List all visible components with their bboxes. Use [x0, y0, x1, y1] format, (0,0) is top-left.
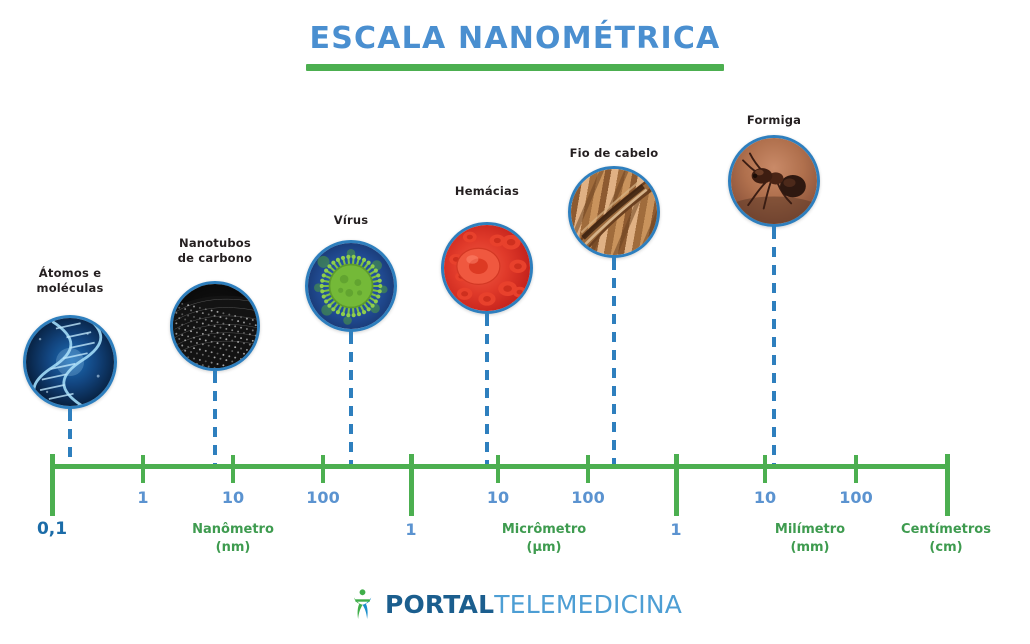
- axis-unit-name: Nanômetro: [192, 521, 274, 539]
- scale-item-label: Vírus: [334, 213, 369, 228]
- axis-unit-name: Milímetro: [775, 521, 845, 539]
- portal-telemedicina-figure-icon: [348, 588, 378, 620]
- axis-boundary-label: 1: [670, 520, 681, 539]
- ant-image: [728, 135, 820, 227]
- axis-end-tick: [945, 454, 950, 516]
- scale-item-label-line2: de carbono: [178, 251, 253, 266]
- virus-image: [305, 240, 397, 332]
- axis-tick-label: 10: [754, 488, 776, 507]
- axis-tick-label: 100: [839, 488, 872, 507]
- logo-wordmark: PORTALTELEMEDICINA: [385, 592, 682, 617]
- scale-item-label-line1: Átomos e: [37, 266, 104, 281]
- axis-unit-symbol: (cm): [901, 539, 991, 557]
- connector-dashed-line: [772, 229, 776, 469]
- axis-unit-symbol: (mm): [775, 539, 845, 557]
- axis-tick-label: 1: [137, 488, 148, 507]
- connector-dashed-line: [485, 316, 489, 469]
- page-title-block: ESCALA NANOMÉTRICA: [0, 24, 1030, 71]
- scale-item-label-line1: Hemácias: [455, 184, 519, 199]
- axis-tick: [586, 455, 590, 483]
- axis-tick: [496, 455, 500, 483]
- axis-tick-label: 10: [487, 488, 509, 507]
- axis-unit-label: Milímetro(mm): [775, 521, 845, 556]
- logo-telemedicina: TELEMEDICINA: [494, 590, 682, 619]
- connector-dashed-line: [68, 411, 72, 469]
- dna-helix-image: [23, 315, 117, 409]
- axis-tick: [321, 455, 325, 483]
- axis-boundary-tick: [674, 454, 679, 516]
- axis-unit-label: Micrômetro(µm): [502, 521, 586, 556]
- scale-item-label: Átomos emoléculas: [37, 266, 104, 295]
- axis-start-label: 0,1: [37, 519, 67, 539]
- axis-tick: [763, 455, 767, 483]
- axis-unit-name: Micrômetro: [502, 521, 586, 539]
- connector-dashed-line: [213, 373, 217, 469]
- scale-item-label: Hemácias: [455, 184, 519, 199]
- axis-unit-symbol: (nm): [192, 539, 274, 557]
- axis-tick: [854, 455, 858, 483]
- axis-baseline: [52, 464, 948, 469]
- connector-dashed-line: [349, 334, 353, 469]
- axis-unit-label: Centímetros(cm): [901, 521, 991, 556]
- red-blood-cells-image: [441, 222, 533, 314]
- title-underline: [306, 64, 724, 71]
- scale-item-label-line1: Nanotubos: [178, 236, 253, 251]
- axis-tick: [231, 455, 235, 483]
- scale-item-label: Formiga: [747, 113, 801, 128]
- scale-item-label-line1: Vírus: [334, 213, 369, 228]
- axis-boundary-tick: [409, 454, 414, 516]
- scale-item-label-line2: moléculas: [37, 281, 104, 296]
- axis-tick-label: 10: [222, 488, 244, 507]
- scale-item-label-line1: Fio de cabelo: [570, 146, 659, 161]
- axis-unit-label: Nanômetro(nm): [192, 521, 274, 556]
- axis-unit-name: Centímetros: [901, 521, 991, 539]
- carbon-nanotube-image: [170, 281, 260, 371]
- axis-tick-label: 100: [306, 488, 339, 507]
- logo-portal: PORTAL: [385, 590, 494, 619]
- brand-logo: PORTALTELEMEDICINA: [0, 588, 1030, 620]
- scale-item-label-line1: Formiga: [747, 113, 801, 128]
- hair-strand-image: [568, 166, 660, 258]
- axis-tick: [141, 455, 145, 483]
- scale-item-label: Fio de cabelo: [570, 146, 659, 161]
- page-title: ESCALA NANOMÉTRICA: [0, 24, 1030, 54]
- connector-dashed-line: [612, 260, 616, 469]
- axis-unit-symbol: (µm): [502, 539, 586, 557]
- axis-tick-label: 100: [571, 488, 604, 507]
- axis-start-tick: [50, 454, 55, 516]
- infographic-canvas: ESCALA NANOMÉTRICA Átomos emoléculasNano…: [0, 0, 1030, 644]
- axis-boundary-label: 1: [405, 520, 416, 539]
- scale-item-label: Nanotubosde carbono: [178, 236, 253, 265]
